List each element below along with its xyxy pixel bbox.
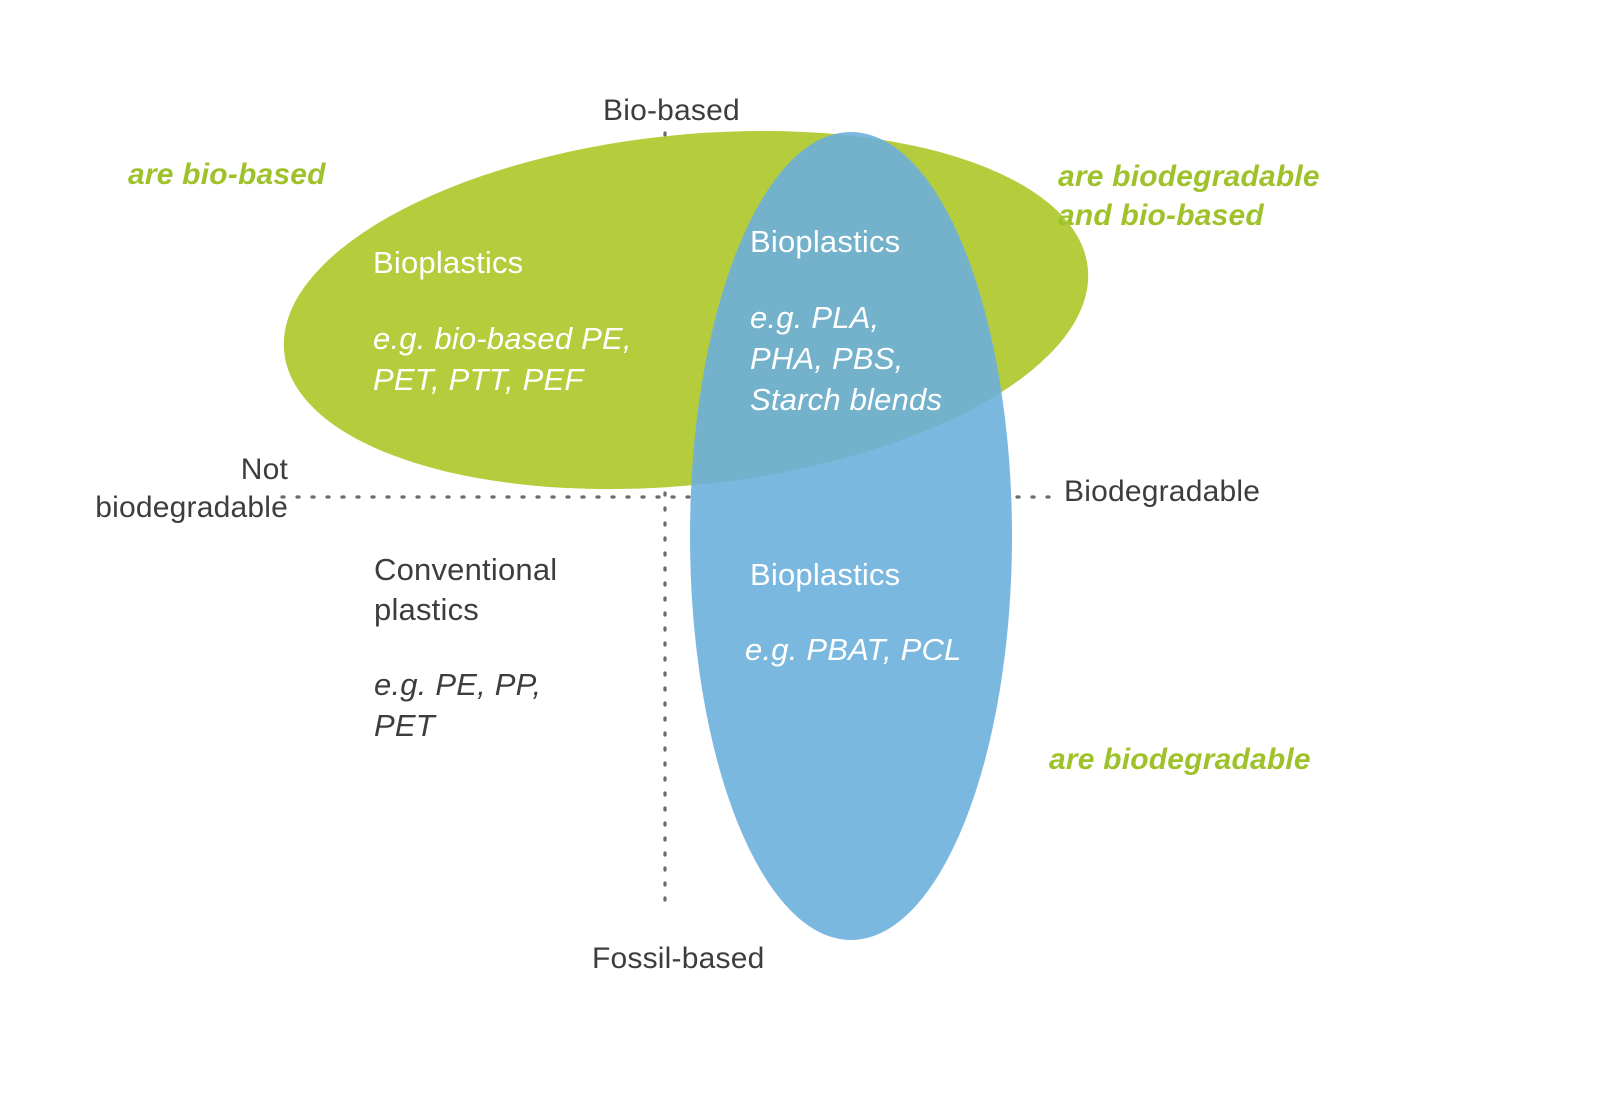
region-overlap-title: Bioplastics: [750, 222, 900, 262]
axis-label-biodegradable: Biodegradable: [1064, 473, 1260, 511]
axis-label-not-biodegradable: Not biodegradable: [30, 451, 288, 528]
region-bio-based-examples: e.g. bio-based PE, PET, PTT, PEF: [373, 319, 632, 401]
region-biodegradable-examples: e.g. PBAT, PCL: [745, 630, 961, 671]
region-conventional-title: Conventional plastics: [374, 550, 557, 631]
region-bio-based-title: Bioplastics: [373, 243, 523, 283]
diagram-canvas: Bio-based Fossil-based Not biodegradable…: [0, 0, 1609, 1097]
callout-are-biodegradable: are biodegradable: [1049, 740, 1311, 779]
axis-label-fossil-based: Fossil-based: [592, 940, 764, 978]
callout-are-bio-based: are bio-based: [128, 155, 326, 194]
axis-label-bio-based: Bio-based: [603, 92, 740, 130]
region-overlap-examples: e.g. PLA, PHA, PBS, Starch blends: [750, 298, 942, 421]
callout-are-biodegradable-and-bio-based: are biodegradable and bio-based: [1058, 157, 1320, 235]
region-conventional-examples: e.g. PE, PP, PET: [374, 665, 541, 747]
region-biodegradable-title: Bioplastics: [750, 555, 900, 595]
